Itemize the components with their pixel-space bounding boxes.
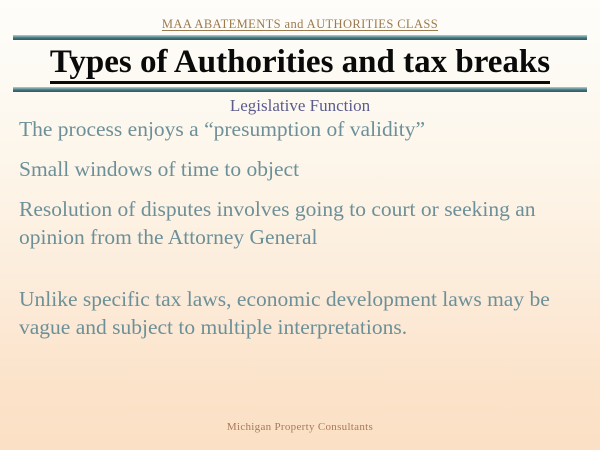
slide-body: The process enjoys a “presumption of val… (19, 115, 581, 353)
divider-rule-bottom (13, 87, 587, 92)
slide-title: Types of Authorities and tax breaks (0, 42, 600, 82)
slide-eyebrow-heading: MAA ABATEMENTS and AUTHORITIES CLASS (0, 17, 600, 32)
divider-rule-top (13, 35, 587, 40)
body-paragraph: Resolution of disputes involves going to… (19, 195, 581, 251)
slide-footer: Michigan Property Consultants (0, 421, 600, 433)
body-paragraph: Unlike specific tax laws, economic devel… (19, 285, 581, 341)
slide-title-text: Types of Authorities and tax breaks (50, 44, 550, 84)
presentation-slide: MAA ABATEMENTS and AUTHORITIES CLASS Typ… (0, 0, 600, 450)
body-paragraph: The process enjoys a “presumption of val… (19, 115, 581, 143)
body-paragraph: Small windows of time to object (19, 155, 581, 183)
slide-subtitle: Legislative Function (0, 96, 600, 116)
slide-eyebrow-text: MAA ABATEMENTS and AUTHORITIES CLASS (162, 17, 438, 31)
